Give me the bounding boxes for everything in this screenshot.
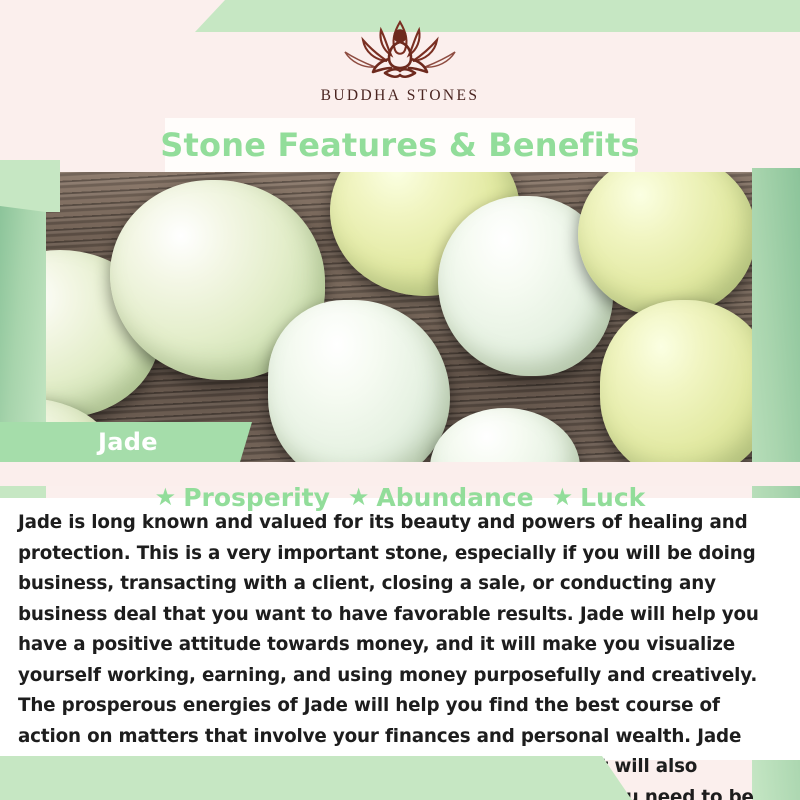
lotus-meditation-icon [335, 18, 465, 84]
page-title: Stone Features & Benefits [160, 126, 639, 164]
decor-corner-top-left [0, 160, 60, 212]
star-icon: ★ [348, 485, 370, 509]
brand-logo: BUDDHA STONES [0, 18, 800, 114]
stone-name-banner: Jade [0, 422, 252, 462]
stone-name-label: Jade [98, 428, 158, 456]
star-icon: ★ [155, 485, 177, 509]
description-section: ★ Prosperity ★ Abundance ★ Luck Jade is … [0, 462, 800, 800]
star-icon: ★ [552, 485, 574, 509]
stone-photo [0, 172, 800, 462]
header-banner: Stone Features & Benefits [165, 118, 635, 172]
stone-info-card: BUDDHA STONES Stone Features & Benefits … [0, 0, 800, 800]
brand-name: BUDDHA STONES [321, 87, 480, 105]
